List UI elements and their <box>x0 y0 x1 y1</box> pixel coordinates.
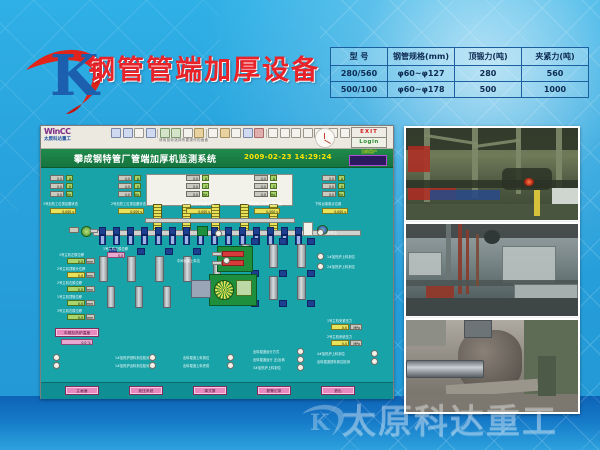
coil-v-value-3: 0.0 <box>254 183 268 189</box>
hydraulic-cylinder <box>135 286 143 308</box>
right-readout-value-0: 0.0 <box>331 324 349 330</box>
hydraulic-cylinder <box>99 256 108 282</box>
lamp-label-4: 1#加热炉进料到位检测 <box>115 355 150 360</box>
readout-value-r4: 0.0 <box>67 314 85 320</box>
coil-hz-unit-2: Hz <box>202 191 209 197</box>
lamp-label-11: 4#加热炉上料到位 <box>317 351 345 356</box>
lamp-label-2: 1#加热炉上料到位 <box>327 254 355 259</box>
group-title-1: 2号加热工位感应圈状态 <box>111 201 146 206</box>
valve-symbol <box>193 248 201 255</box>
hydraulic-cylinder <box>297 276 306 300</box>
coil-v-value-4: 0.0 <box>322 183 336 189</box>
grid-icon[interactable] <box>268 128 278 138</box>
lamp-label-0: 中间台架上料位 <box>177 258 200 263</box>
lamp-label-3: 2#加热炉上料到位 <box>327 264 355 269</box>
coil-a-value-0: 0.0 <box>50 175 64 181</box>
hydraulic-cylinder <box>155 256 164 282</box>
cell-size: φ60~φ178 <box>388 82 455 98</box>
readout-unit-r1: mm <box>86 272 95 278</box>
status-lamp-9 <box>227 362 234 369</box>
readout-value-r3: 0.0 <box>67 300 85 306</box>
conveyor-roller <box>155 227 162 235</box>
lamp-label-7: 出料辊道上料完成 <box>183 363 209 368</box>
readout-value-r2: 0.0 <box>67 286 85 292</box>
login-button[interactable]: Login <box>351 137 387 148</box>
cell-size: φ60~φ127 <box>388 66 455 82</box>
lamp-label-1: 出料位 <box>327 230 337 235</box>
status-lamp-7 <box>53 362 60 369</box>
status-lamp-13 <box>371 350 378 357</box>
clock-icon <box>315 128 335 148</box>
hydraulic-cylinder <box>127 256 136 282</box>
lamp-label-8: 出料辊道运行方式 <box>253 349 279 354</box>
furnace-temp-value: 0.0 ℃ <box>61 339 93 345</box>
roller-stand <box>113 235 120 245</box>
status-lamp <box>215 230 222 237</box>
status-lamp-0 <box>223 257 230 264</box>
wincc-wordmark: WinCC <box>44 127 106 136</box>
conveyor-roller <box>113 227 120 235</box>
conveyor-roller <box>169 227 176 235</box>
cell-upset-force: 500 <box>455 82 522 98</box>
wincc-sub-brand: 太原科达重工 <box>44 136 106 142</box>
nav-button-main[interactable]: 主画面 <box>65 386 99 395</box>
cell-model: 280/560 <box>331 66 388 82</box>
readout-unit-r3: mm <box>86 300 95 306</box>
furnace-temp-label[interactable]: 中频加热炉温度 <box>55 328 99 337</box>
status-lamp-8 <box>227 354 234 361</box>
lamp-label-9: 出料辊道运行 正/反转 <box>253 357 285 362</box>
conveyor-roller <box>183 227 190 235</box>
coil-hz-value-1: 0.0 <box>118 191 132 197</box>
hmi-datetime: 2009-02-23 14:29:24 <box>244 153 332 161</box>
slide-page: K 钢管管端加厚设备 型 号 钢管规格(mm) 顶锻力(吨) 夹紧力(吨) 28… <box>0 0 600 450</box>
readout-unit-r0: mm <box>86 258 95 264</box>
align-icon[interactable] <box>280 128 290 138</box>
readout-label-r3: 1号主机顶锻位移 <box>57 294 82 299</box>
group-timer-1: 0.000 s <box>118 208 144 214</box>
conveyor-roller <box>253 227 260 235</box>
coil-hz-unit-4: Hz <box>338 191 345 197</box>
status-lamp-11 <box>297 356 304 363</box>
hydraulic-cylinder <box>107 286 115 308</box>
hmi-toolbar: WinCC 太原科达重工 <box>41 126 393 149</box>
col-header-upset-force: 顶锻力(吨) <box>455 48 522 66</box>
roller-stand <box>197 235 204 245</box>
group-title-0: 1号加热工位感应圈状态 <box>43 201 78 206</box>
table-row: 500/100 φ60~φ178 500 1000 <box>331 82 589 98</box>
info-icon[interactable] <box>340 128 350 138</box>
coil-v-unit-2: V <box>202 183 209 189</box>
valve-symbol <box>251 238 259 245</box>
status-lamp-2 <box>317 253 324 260</box>
toolbar-icon-group[interactable] <box>111 128 350 138</box>
coil-a-unit-0: A <box>66 175 73 181</box>
hmi-window: WinCC 太原科达重工 <box>40 125 394 399</box>
nav-button-hydraulic[interactable]: 液压系统 <box>129 386 163 395</box>
conveyor-roller <box>239 227 246 235</box>
valve-symbol <box>307 270 315 277</box>
coil-v-unit-0: V <box>66 183 73 189</box>
new-file-icon[interactable] <box>111 128 121 138</box>
zoom-out-icon[interactable] <box>171 128 181 138</box>
print-icon[interactable] <box>134 128 144 138</box>
status-lamp-4 <box>53 354 60 361</box>
group-timer-4: 0.000 s <box>322 208 348 214</box>
col-header-size: 钢管规格(mm) <box>388 48 455 66</box>
status-lamp-10 <box>297 348 304 355</box>
hydraulic-cylinder <box>297 244 306 268</box>
coil-a-value-1: 0.0 <box>118 175 132 181</box>
coil-v-unit-3: V <box>270 183 277 189</box>
conveyor-roller <box>99 227 106 235</box>
conveyor-roller <box>141 227 148 235</box>
cell-clamp-force: 560 <box>522 66 589 82</box>
toolbar-separator <box>266 129 267 138</box>
hmi-button-bar: 主画面 液压系统 调式屏 报警记录 退出 <box>41 382 393 399</box>
drive-shaft <box>90 229 98 233</box>
col-header-model: 型 号 <box>331 48 388 66</box>
valve-symbol <box>307 238 315 245</box>
open-file-icon[interactable] <box>123 128 133 138</box>
valve-symbol <box>137 248 145 255</box>
roller-stand <box>155 235 162 245</box>
right-readout-label-0: 1号主机夹紧压力 <box>327 318 352 323</box>
paint-icon[interactable] <box>194 128 204 138</box>
toolbar-separator <box>206 129 207 138</box>
valve-indicator <box>197 226 208 236</box>
group-icon[interactable] <box>291 128 301 138</box>
coil-a-value-3: 0.0 <box>254 175 268 181</box>
line-icon[interactable] <box>231 128 241 138</box>
readout-label-r0: 1号主机左模位移 <box>59 252 84 257</box>
readout-value-0: 0.0 <box>107 252 125 258</box>
readout-label-r2: 2号主机右模位移 <box>57 280 82 285</box>
select-icon[interactable] <box>183 128 193 138</box>
conveyor-roller <box>295 227 302 235</box>
spec-table: 型 号 钢管规格(mm) 顶锻力(吨) 夹紧力(吨) 280/560 φ60~φ… <box>330 47 589 98</box>
toolbar-separator <box>157 129 158 138</box>
right-readout-label-1: 2号主机系统压力 <box>327 334 352 339</box>
roller-stand <box>141 235 148 245</box>
page-title: 钢管管端加厚设备 <box>88 48 320 87</box>
roller-stand <box>183 235 190 245</box>
coil-a-unit-1: A <box>134 175 141 181</box>
table-row: 280/560 φ60~φ127 280 560 <box>331 66 589 82</box>
right-readout-unit-0: MPa <box>350 324 362 330</box>
coil-hz-value-0: 0.0 <box>50 191 64 197</box>
coil-hz-value-4: 0.0 <box>322 191 336 197</box>
hmi-mimic-canvas: 0.0 A 0.0 V 0.0 Hz 1号加热工位感应圈状态 0.000 s 0… <box>41 168 393 399</box>
cursor-icon[interactable] <box>208 128 218 138</box>
status-lamp-6 <box>149 362 156 369</box>
coil-a-unit-2: A <box>202 175 209 181</box>
status-lamp-14 <box>371 358 378 365</box>
valve-symbol <box>279 270 287 277</box>
layer-icon[interactable] <box>303 128 313 138</box>
nav-button-alarms[interactable]: 报警记录 <box>257 386 291 395</box>
cell-clamp-force: 1000 <box>522 82 589 98</box>
conveyor-roller <box>127 227 134 235</box>
photo-hydraulic-station <box>404 222 580 318</box>
coil-hz-value-2: 0.0 <box>186 191 200 197</box>
roller-stand <box>169 235 176 245</box>
lamp-label-6: 出料辊道上料到位 <box>183 355 209 360</box>
main-drive-unit <box>209 274 257 306</box>
hmi-title-bar: 攀成钢特管厂管端加厚机监测系统 2009-02-23 14:29:24 当前用户 <box>41 149 393 168</box>
text-icon[interactable] <box>220 128 230 138</box>
coil-a-value-4: 0.0 <box>322 175 336 181</box>
group-timer-3: 0.000 s <box>254 208 280 214</box>
coil-v-unit-4: V <box>338 183 345 189</box>
hydraulic-cylinder <box>269 244 278 268</box>
group-timer-2: 0.000 s <box>186 208 212 214</box>
preview-icon[interactable] <box>146 128 156 138</box>
coil-hz-unit-1: Hz <box>134 191 141 197</box>
readout-value-r0: 0.0 <box>67 258 85 264</box>
spec-table-header-row: 型 号 钢管规格(mm) 顶锻力(吨) 夹紧力(吨) <box>331 48 589 66</box>
nav-button-exit[interactable]: 退出 <box>321 386 355 395</box>
coil-a-unit-3: A <box>270 175 277 181</box>
photo-production-line <box>404 126 580 222</box>
roller-stand <box>99 235 106 245</box>
readout-value-r1: 0.0 <box>67 272 85 278</box>
status-lamp-3 <box>317 263 324 270</box>
group-title-2: 3号加热工位感应圈状态 <box>179 201 214 206</box>
group-timer-0: 0.000 s <box>50 208 76 214</box>
photo-upset-pipe-end <box>404 318 580 414</box>
col-header-clamp-force: 夹紧力(吨) <box>522 48 589 66</box>
hmi-system-title: 攀成钢特管厂管端加厚机监测系统 <box>74 152 217 165</box>
status-lamp-1 <box>317 229 324 236</box>
toolbar-hint-text: 请用鼠标选择所要操作的画面 <box>159 138 208 143</box>
wincc-logo: WinCC 太原科达重工 <box>44 127 106 147</box>
control-panel-box <box>191 280 211 298</box>
lamp-label-12: 出料辊道进料到位检测 <box>317 359 350 364</box>
readout-label-r1: 2号主机顶锻头位移 <box>57 266 85 271</box>
lamp-label-5: 1#加热炉出料到位检测 <box>115 363 150 368</box>
coil-v-value-2: 0.0 <box>186 183 200 189</box>
coil-a-value-2: 0.0 <box>186 175 200 181</box>
cell-upset-force: 280 <box>455 66 522 82</box>
coil-v-value-0: 0.0 <box>50 183 64 189</box>
status-lamp-12 <box>297 364 304 371</box>
readout-unit-r2: mm <box>86 286 95 292</box>
readout-label-r4: 3号主机右模位移 <box>57 308 82 313</box>
coil-v-value-1: 0.0 <box>118 183 132 189</box>
alarm-icon[interactable] <box>254 128 264 138</box>
cell-model: 500/100 <box>331 82 388 98</box>
left-feed-indicator <box>69 227 79 233</box>
furnace-rail <box>145 218 295 223</box>
coil-hz-value-3: 0.0 <box>254 191 268 197</box>
coil-a-unit-4: A <box>338 175 345 181</box>
readout-label-0: 1号主机左模位移 <box>103 246 128 251</box>
coil-hz-unit-3: Hz <box>270 191 277 197</box>
status-lamp-5 <box>149 354 156 361</box>
conveyor-roller <box>225 227 232 235</box>
conveyor-roller <box>267 227 274 235</box>
roller-stand <box>225 235 232 245</box>
conveyor-roller <box>281 227 288 235</box>
lamp-label-10: 3#加热炉上料到位 <box>253 365 281 370</box>
current-user-field[interactable] <box>349 155 387 166</box>
valve-symbol <box>279 238 287 245</box>
zoom-in-icon[interactable] <box>160 128 170 138</box>
nav-button-debug[interactable]: 调式屏 <box>193 386 227 395</box>
group-title-4: 下料台架原点位置 <box>315 201 341 206</box>
coil-hz-unit-0: Hz <box>66 191 73 197</box>
hydraulic-cylinder <box>269 276 278 300</box>
right-readout-unit-1: MPa <box>350 340 362 346</box>
right-readout-value-1: 0.0 <box>331 340 349 346</box>
right-guide-block <box>303 222 313 236</box>
valve-symbol <box>165 248 173 255</box>
coil-v-unit-1: V <box>134 183 141 189</box>
polygon-icon[interactable] <box>243 128 253 138</box>
hydraulic-cylinder <box>163 286 171 308</box>
readout-unit-r4: mm <box>86 314 95 320</box>
group-title-3: 4号加热工位感应圈状态 <box>247 201 282 206</box>
valve-symbol <box>307 300 315 307</box>
valve-symbol <box>279 300 287 307</box>
roller-stand <box>127 235 134 245</box>
